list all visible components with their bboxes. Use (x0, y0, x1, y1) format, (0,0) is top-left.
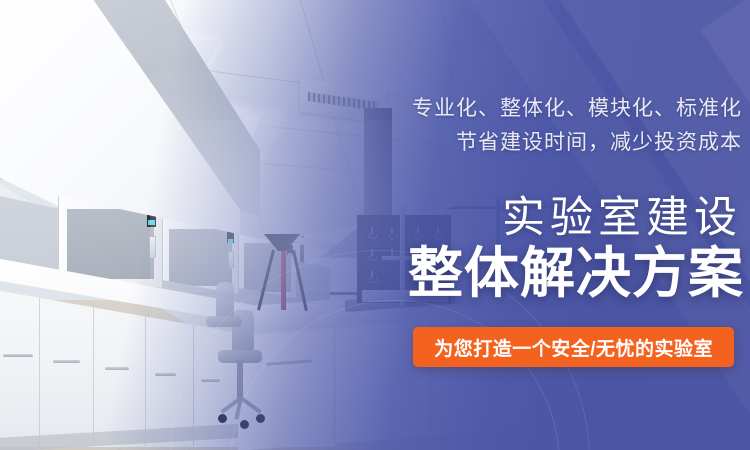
rack-peg (371, 227, 373, 234)
rack-peg (371, 271, 373, 278)
stool-caster (218, 414, 227, 423)
fume-hood-valve (228, 251, 234, 268)
ceiling-light-panel (455, 53, 566, 100)
stool-caster (256, 414, 265, 423)
rack-peg (417, 249, 419, 256)
cabinet-seam (145, 316, 146, 446)
rack-base (362, 290, 448, 302)
fume-hood-valve (149, 236, 156, 258)
rack-peg (437, 249, 439, 256)
stool-seat (206, 316, 242, 327)
hero-banner: 专业化、整体化、模块化、标准化 节省建设时间，减少投资成本 实验室建设 整体解决… (0, 0, 750, 450)
rack-peg (437, 227, 439, 234)
island-cabinet-handle (266, 359, 312, 365)
rack-peg (391, 249, 393, 256)
cabinet-seam (93, 306, 94, 446)
island-door-seam (334, 316, 335, 444)
cabinet-handle (3, 354, 33, 357)
cabinet-handle (53, 360, 80, 363)
rack-peg (417, 227, 419, 234)
cabinet-handle (105, 367, 129, 370)
cabinet-handle (201, 379, 220, 382)
laboratory-photo (0, 0, 750, 450)
cabinet-seam (39, 296, 40, 446)
mullion-vertical (594, 160, 598, 330)
stool-backrest (216, 282, 234, 318)
cta-button[interactable]: 为您打造一个安全/无忧的实验室 (413, 327, 734, 367)
rack-cross-arm (382, 256, 424, 260)
cabinet-handle (155, 373, 176, 376)
rack-peg (391, 227, 393, 234)
rack-peg (437, 271, 439, 278)
stool-caster (240, 420, 249, 429)
fume-hood-cavity (169, 229, 232, 287)
rack-peg (371, 249, 373, 256)
fume-hood-cavity (67, 209, 154, 279)
